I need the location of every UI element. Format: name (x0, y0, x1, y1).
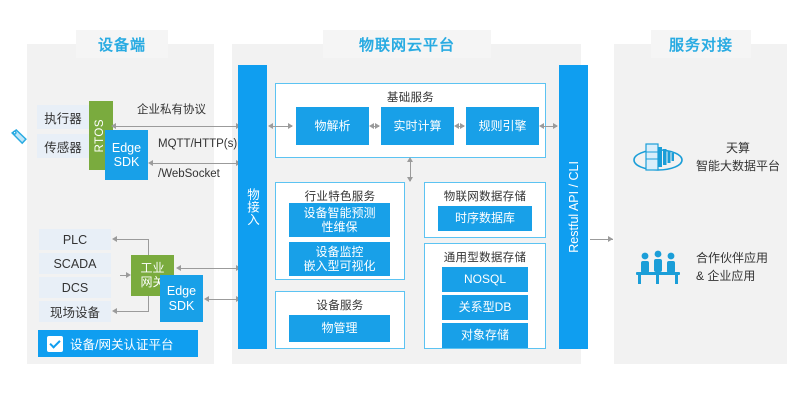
bigdata-label: 天算 智能大数据平台 (696, 139, 780, 175)
arrow-right (608, 236, 613, 242)
predictive-line1: 设备智能预测 (303, 206, 375, 220)
storage-object-storage[interactable]: 对象存储 (442, 323, 528, 348)
industry-services-title: 行业特色服务 (276, 183, 404, 204)
service-predictive-maintenance[interactable]: 设备智能预测 性维保 (289, 203, 390, 237)
bigdata-line1: 天算 (696, 139, 780, 157)
monitor-line2: 嵌入型可视化 (303, 259, 375, 273)
storage-timeseries-db[interactable]: 时序数据库 (438, 206, 532, 231)
predictive-line2: 性维保 (321, 220, 357, 234)
device-actuator: 执行器 (37, 105, 89, 129)
auth-platform-label: 设备/网关认证平台 (70, 334, 173, 353)
connector-bracket-top (117, 239, 148, 240)
bigdata-line2: 智能大数据平台 (696, 157, 780, 175)
connector-mqtt (150, 163, 241, 164)
arrow-left (112, 308, 117, 314)
label-mqtt-line2: /WebSocket (158, 168, 220, 180)
restful-api-cli-bar[interactable]: Restful API / CLI (559, 65, 588, 349)
arrow-left (268, 123, 273, 129)
edge-sdk2-line1: Edge (167, 284, 196, 298)
edge-sdk-line2: SDK (114, 155, 140, 169)
edge-sdk2-line2: SDK (169, 299, 195, 313)
arrow-right (553, 123, 558, 129)
service-realtime-compute[interactable]: 实时计算 (381, 107, 454, 145)
cloud-platform-title: 物联网云平台 (323, 30, 491, 58)
legacy-device-field: 现场设备 (39, 301, 111, 322)
service-item-partners[interactable]: 合作伙伴应用 & 企业应用 (632, 248, 768, 286)
label-private-protocol: 企业私有协议 (137, 101, 206, 117)
tag-icon (8, 127, 30, 149)
service-item-bigdata[interactable]: 天算 智能大数据平台 (632, 136, 780, 178)
device-gateway-auth-platform[interactable]: 设备/网关认证平台 (38, 330, 198, 357)
arrow-right (460, 123, 465, 129)
connector-gateway-access (178, 268, 241, 269)
service-device-monitor-visualization[interactable]: 设备监控 嵌入型可视化 (289, 242, 390, 276)
device-services-title: 设备服务 (276, 292, 404, 313)
arrow-left (111, 123, 116, 129)
connector-private-protocol (113, 126, 241, 127)
arrow-left (539, 123, 544, 129)
partners-line1: 合作伙伴应用 (696, 249, 768, 267)
partners-meeting-icon (632, 248, 684, 286)
bigdata-server-icon (632, 136, 684, 178)
iot-access-bar[interactable]: 物接入 (238, 65, 267, 349)
arrow-left (204, 296, 209, 302)
connector-bracket-bottom (117, 311, 148, 312)
arrow-left (148, 160, 153, 166)
device-side-title: 设备端 (76, 30, 168, 58)
legacy-device-dcs: DCS (39, 277, 111, 298)
edge-sdk-line1: Edge (112, 141, 141, 155)
iot-access-label: 物接入 (243, 188, 262, 226)
iot-data-storage-title: 物联网数据存储 (425, 183, 545, 204)
storage-nosql[interactable]: NOSQL (442, 267, 528, 292)
service-integration-title: 服务对接 (651, 30, 751, 58)
arrow-left (112, 236, 117, 242)
arrow-down (407, 177, 413, 182)
monitor-line1: 设备监控 (315, 245, 363, 259)
check-icon (47, 336, 63, 352)
partners-label: 合作伙伴应用 & 企业应用 (696, 249, 768, 285)
edge-sdk-block-device: Edge SDK (105, 130, 148, 180)
partners-line2: & 企业应用 (696, 267, 768, 285)
label-mqtt-line1: MQTT/HTTP(s) (158, 138, 237, 150)
restful-api-label: Restful API / CLI (567, 161, 581, 253)
general-data-storage-title: 通用型数据存储 (425, 244, 545, 265)
basic-services-title: 基础服务 (276, 84, 545, 105)
service-integration-panel (614, 44, 787, 364)
legacy-device-scada: SCADA (39, 253, 111, 274)
edge-sdk-block-gateway: Edge SDK (160, 275, 203, 322)
arrow-left (369, 123, 374, 129)
arrow-right (288, 123, 293, 129)
service-rule-engine[interactable]: 规则引擎 (466, 107, 539, 145)
legacy-device-plc: PLC (39, 229, 111, 250)
arrow-left (176, 265, 181, 271)
storage-relational-db[interactable]: 关系型DB (442, 295, 528, 320)
arrow-up (407, 157, 413, 162)
industrial-gateway-line1: 工业 (140, 262, 164, 276)
arrow-left (454, 123, 459, 129)
device-sensor: 传感器 (37, 134, 89, 158)
service-thing-management[interactable]: 物管理 (289, 315, 390, 342)
arrow-right (375, 123, 380, 129)
service-object-parse[interactable]: 物解析 (296, 107, 369, 145)
